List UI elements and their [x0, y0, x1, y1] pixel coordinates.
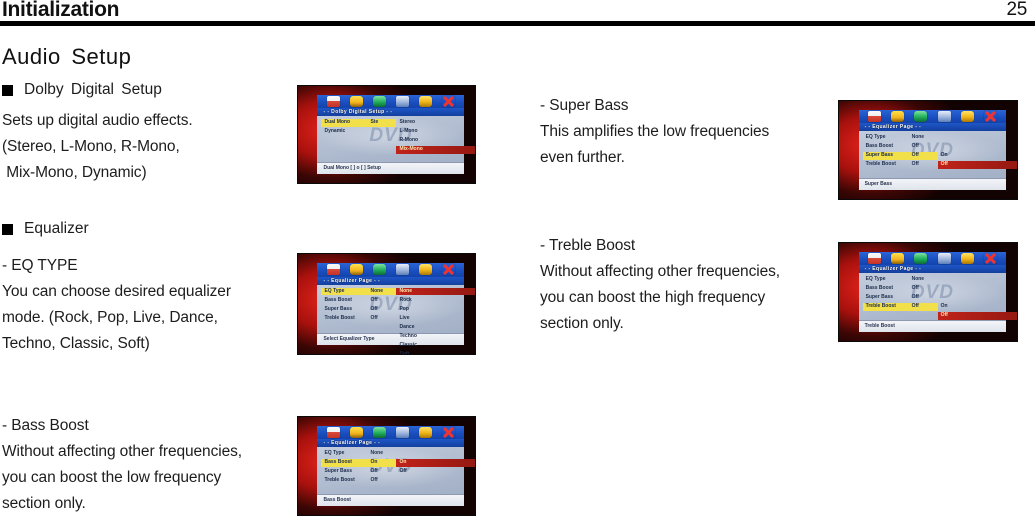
paragraph-eq-type: - EQ TYPE You can choose desired equaliz…: [2, 253, 231, 357]
osd-option-item[interactable]: Off: [938, 312, 1018, 320]
dolby-digital-icon[interactable]: [914, 253, 927, 264]
osd-row-value: Off: [370, 306, 396, 314]
osd-row-label: EQ Type: [864, 134, 912, 142]
osd-menu-row[interactable]: Super BassOff: [864, 294, 1003, 302]
heading-label: Dolby Digital Setup: [24, 80, 162, 100]
video-setup-icon[interactable]: [938, 253, 951, 264]
osd-option-list[interactable]: OnOff: [396, 459, 476, 477]
osd-row-label: Super Bass: [322, 306, 370, 314]
dolby-digital-icon[interactable]: [373, 264, 386, 275]
lock-icon[interactable]: [961, 111, 974, 122]
osd-row-label: EQ Type: [864, 276, 912, 284]
heading-dolby-digital-setup: Dolby Digital Setup: [2, 80, 162, 100]
osd-page-title: - - Equalizer Page - -: [859, 265, 1007, 273]
dolby-digital-icon[interactable]: [373, 427, 386, 438]
osd-footer-hint: Dual Mono [ ] o [ ] Setup: [317, 162, 464, 174]
osd-row-label: Treble Boost: [864, 303, 912, 311]
osd-icon-bar[interactable]: [317, 426, 464, 440]
osd-page-title: - - Equalizer Page - -: [317, 439, 464, 447]
osd-page-title: - - Equalizer Page - -: [317, 277, 464, 285]
osd-option-item[interactable]: Stereo: [396, 119, 476, 127]
lock-icon[interactable]: [419, 96, 432, 107]
osd-option-item[interactable]: On: [938, 303, 1018, 311]
osd-row-value: Ste: [370, 119, 396, 127]
video-setup-icon[interactable]: [396, 427, 409, 438]
osd-screen: - - Equalizer Page - -DVDEQ TypeNoneBass…: [317, 426, 464, 506]
osd-row-label: Treble Boost: [322, 477, 370, 485]
osd-footer-hint: Super Bass: [859, 178, 1007, 190]
photo-eq-type-screen: - - Equalizer Page - -DVDEQ TypeNoneBass…: [297, 253, 476, 355]
osd-row-value: None: [370, 450, 396, 458]
osd-option-item[interactable]: Classic: [396, 342, 476, 350]
osd-option-item[interactable]: Techno: [396, 333, 476, 341]
exit-icon[interactable]: [984, 111, 997, 122]
osd-row-label: Bass Boost: [864, 285, 912, 293]
osd-option-item[interactable]: Dance: [396, 324, 476, 332]
osd-body: DVDEQ TypeNoneBass BoostOnSuper BassOffT…: [317, 447, 464, 494]
osd-row-value: None: [912, 134, 938, 142]
page-title: Audio Setup: [2, 44, 131, 70]
manual-page: Initialization 25 Audio Setup Dolby Digi…: [0, 0, 1035, 516]
osd-row-label: Super Bass: [864, 294, 912, 302]
osd-menu-row[interactable]: Bass BoostOff: [864, 143, 1003, 151]
osd-body: DVDEQ TypeNoneBass BoostOffSuper BassOff…: [859, 273, 1007, 320]
lock-icon[interactable]: [419, 427, 432, 438]
exit-icon[interactable]: [442, 96, 455, 107]
osd-option-item[interactable]: Live: [396, 315, 476, 323]
dolby-digital-icon[interactable]: [373, 96, 386, 107]
lock-icon[interactable]: [961, 253, 974, 264]
exit-icon[interactable]: [442, 264, 455, 275]
osd-menu-row[interactable]: Bass BoostOff: [864, 285, 1003, 293]
heading-equalizer: Equalizer: [2, 219, 89, 239]
osd-row-label: Super Bass: [864, 152, 912, 160]
video-setup-icon[interactable]: [938, 111, 951, 122]
osd-option-item[interactable]: Pop: [396, 306, 476, 314]
general-setup-icon[interactable]: [868, 111, 881, 122]
photo-treble-boost-screen: - - Equalizer Page - -DVDEQ TypeNoneBass…: [838, 242, 1018, 342]
osd-row-value: Off: [912, 285, 938, 293]
osd-option-item[interactable]: Off: [938, 161, 1018, 169]
photo-bass-boost-screen: - - Equalizer Page - -DVDEQ TypeNoneBass…: [297, 416, 476, 516]
osd-row-label: Treble Boost: [864, 161, 912, 169]
osd-row-label: Bass Boost: [864, 143, 912, 151]
exit-icon[interactable]: [442, 427, 455, 438]
osd-footer-hint: Treble Boost: [859, 320, 1007, 332]
osd-menu-row[interactable]: EQ TypeNone: [864, 134, 1003, 142]
general-setup-icon[interactable]: [868, 253, 881, 264]
osd-row-label: Treble Boost: [322, 315, 370, 323]
general-setup-icon[interactable]: [327, 427, 340, 438]
osd-row-label: Bass Boost: [322, 297, 370, 305]
osd-row-value: Off: [370, 477, 396, 485]
osd-row-label: Super Bass: [322, 468, 370, 476]
osd-option-list[interactable]: StereoL-MonoR-MonoMix-Mono: [396, 119, 476, 155]
osd-page-title: - - Equalizer Page - -: [859, 123, 1007, 131]
osd-option-list[interactable]: NoneRockPopLiveDanceTechnoClassicSoft: [396, 288, 476, 355]
osd-page-title: - - Dolby Digital Setup - -: [317, 108, 464, 116]
osd-row-value: Off: [912, 161, 938, 169]
paragraph-bass-boost: - Bass Boost Without affecting other fre…: [2, 413, 242, 516]
osd-row-value: Off: [912, 152, 938, 160]
page-number: 25: [1006, 0, 1027, 21]
osd-footer-hint: Bass Boost: [317, 494, 464, 506]
osd-row-value: Off: [912, 303, 938, 311]
osd-screen: - - Equalizer Page - -DVDEQ TypeNoneBass…: [859, 110, 1007, 190]
osd-option-list[interactable]: OnOff: [938, 152, 1018, 170]
osd-row-value: Off: [370, 468, 396, 476]
exit-icon[interactable]: [984, 253, 997, 264]
osd-row-label: Dynamic: [322, 128, 370, 136]
paragraph-treble-boost: - Treble Boost Without affecting other f…: [540, 233, 780, 337]
osd-row-label: EQ Type: [322, 450, 370, 458]
osd-option-item[interactable]: R-Mono: [396, 137, 476, 145]
photo-dolby-digital-setup-screen: - - Dolby Digital Setup - -DVDDual MonoS…: [297, 85, 476, 184]
audio-setup-icon[interactable]: [350, 427, 363, 438]
video-setup-icon[interactable]: [396, 96, 409, 107]
osd-option-item[interactable]: On: [938, 152, 1018, 160]
bullet-square-icon: [2, 224, 13, 235]
osd-body: DVDEQ TypeNoneBass BoostOffSuper BassOff…: [317, 285, 464, 333]
osd-row-label: EQ Type: [322, 288, 370, 296]
osd-option-item[interactable]: None: [396, 288, 476, 296]
osd-option-item[interactable]: Mix-Mono: [396, 146, 476, 154]
osd-row-value: Off: [370, 297, 396, 305]
osd-option-item[interactable]: Off: [396, 468, 476, 476]
osd-body: DVDEQ TypeNoneBass BoostOffSuper BassOff…: [859, 131, 1007, 178]
osd-option-list[interactable]: OnOff: [938, 303, 1018, 321]
osd-menu-row[interactable]: EQ TypeNone: [322, 450, 460, 458]
osd-icon-bar[interactable]: [317, 263, 464, 277]
osd-screen: - - Equalizer Page - -DVDEQ TypeNoneBass…: [859, 252, 1007, 332]
osd-option-item[interactable]: On: [396, 459, 476, 467]
paragraph-dolby-digital-setup: Sets up digital audio effects. (Stereo, …: [2, 108, 193, 186]
dolby-digital-icon[interactable]: [914, 111, 927, 122]
osd-icon-bar[interactable]: [317, 95, 464, 109]
osd-option-item[interactable]: Soft: [396, 351, 476, 355]
bullet-square-icon: [2, 85, 13, 96]
osd-row-value: None: [370, 288, 396, 296]
osd-row-value: Off: [370, 315, 396, 323]
lock-icon[interactable]: [419, 264, 432, 275]
page-header-title: Initialization: [2, 0, 119, 22]
paragraph-super-bass: - Super Bass This amplifies the low freq…: [540, 93, 769, 171]
general-setup-icon[interactable]: [327, 264, 340, 275]
osd-icon-bar[interactable]: [859, 110, 1007, 124]
osd-row-value: Off: [912, 294, 938, 302]
osd-screen: - - Equalizer Page - -DVDEQ TypeNoneBass…: [317, 263, 464, 345]
audio-setup-icon[interactable]: [350, 264, 363, 275]
osd-row-label: Bass Boost: [322, 459, 370, 467]
audio-setup-icon[interactable]: [350, 96, 363, 107]
audio-setup-icon[interactable]: [891, 253, 904, 264]
video-setup-icon[interactable]: [396, 264, 409, 275]
osd-icon-bar[interactable]: [859, 252, 1007, 266]
osd-body: DVDDual MonoSteDynamicStereoL-MonoR-Mono…: [317, 116, 464, 162]
osd-row-label: Dual Mono: [322, 119, 370, 127]
general-setup-icon[interactable]: [327, 96, 340, 107]
osd-option-item[interactable]: L-Mono: [396, 128, 476, 136]
osd-menu-row[interactable]: EQ TypeNone: [864, 276, 1003, 284]
header-divider: [0, 21, 1035, 26]
osd-row-value: None: [912, 276, 938, 284]
osd-screen: - - Dolby Digital Setup - -DVDDual MonoS…: [317, 95, 464, 175]
osd-option-item[interactable]: Rock: [396, 297, 476, 305]
audio-setup-icon[interactable]: [891, 111, 904, 122]
osd-row-value: On: [370, 459, 396, 467]
heading-label: Equalizer: [24, 219, 89, 239]
osd-menu-row[interactable]: Treble BoostOff: [322, 477, 460, 485]
photo-super-bass-screen: - - Equalizer Page - -DVDEQ TypeNoneBass…: [838, 100, 1018, 200]
osd-row-value: Off: [912, 143, 938, 151]
